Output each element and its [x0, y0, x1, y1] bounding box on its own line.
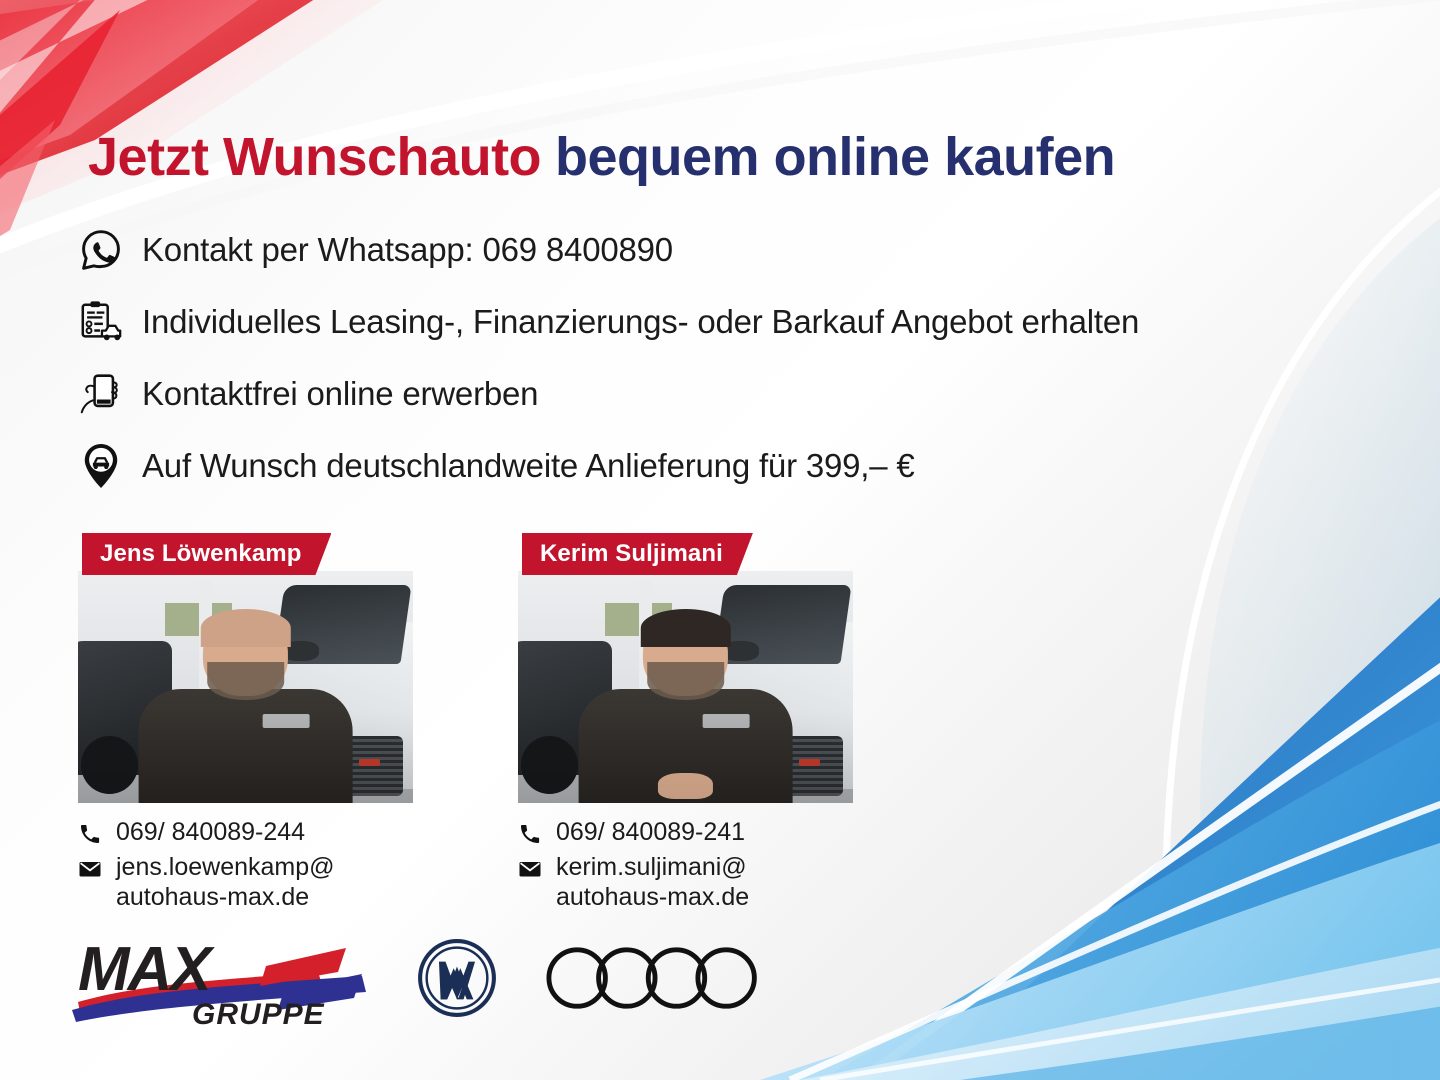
feature-item-delivery: Auf Wunsch deutschlandweite Anlieferung …: [78, 430, 1368, 502]
page-title-blue: bequem online kaufen: [555, 126, 1115, 188]
envelope-icon: [518, 852, 544, 881]
feature-list: Kontakt per Whatsapp: 069 8400890: [78, 214, 1368, 502]
staff-email-line[interactable]: kerim.suljimani@: [518, 852, 853, 883]
feature-item-online: Kontaktfrei online erwerben: [78, 358, 1368, 430]
feature-item-whatsapp: Kontakt per Whatsapp: 069 8400890: [78, 214, 1368, 286]
staff-contact: 069/ 840089-244 jens.loewenkamp@ autohau…: [78, 817, 413, 912]
promo-banner: Jetzt Wunschauto bequem online kaufen Ko…: [0, 0, 1440, 1080]
feature-label: Kontaktfrei online erwerben: [142, 375, 538, 413]
feature-label: Individuelles Leasing-, Finanzierungs- o…: [142, 303, 1139, 341]
staff-phone: 069/ 840089-241: [556, 817, 745, 848]
svg-text:GRUPPE: GRUPPE: [192, 998, 325, 1028]
staff-name-badge: Kerim Suljimani: [522, 533, 753, 575]
staff-email-line2: autohaus-max.de: [518, 883, 853, 912]
staff-email-line[interactable]: jens.loewenkamp@: [78, 852, 413, 883]
page-title: Jetzt Wunschauto bequem online kaufen: [88, 126, 1115, 188]
staff-email-line1: jens.loewenkamp@: [116, 852, 335, 883]
feature-label: Kontakt per Whatsapp: 069 8400890: [142, 231, 673, 269]
staff-phone-line[interactable]: 069/ 840089-241: [518, 817, 853, 848]
map-pin-car-icon: [78, 441, 124, 491]
feature-label: Auf Wunsch deutschlandweite Anlieferung …: [142, 447, 915, 485]
staff-email-line1: kerim.suljimani@: [556, 852, 747, 883]
staff-card-kerim: Kerim Suljimani: [518, 533, 853, 912]
feature-item-financing: Individuelles Leasing-, Finanzierungs- o…: [78, 286, 1368, 358]
staff-phone-line[interactable]: 069/ 840089-244: [78, 817, 413, 848]
staff-photo: [518, 571, 853, 803]
staff-email-line2: autohaus-max.de: [78, 883, 413, 912]
volkswagen-logo: [416, 937, 498, 1019]
phone-icon: [78, 817, 104, 846]
page-title-red: Jetzt Wunschauto: [88, 126, 541, 188]
svg-text:MAX: MAX: [78, 935, 215, 1004]
whatsapp-icon: [78, 225, 124, 275]
staff-contact: 069/ 840089-241 kerim.suljimani@ autohau…: [518, 817, 853, 912]
phone-icon: [518, 817, 544, 846]
staff-card-jens: Jens Löwenkamp: [78, 533, 413, 912]
staff-phone: 069/ 840089-244: [116, 817, 305, 848]
envelope-icon: [78, 852, 104, 881]
hand-phone-icon: [78, 369, 124, 419]
staff-photo: [78, 571, 413, 803]
max-gruppe-logo: MAX GRUPPE: [70, 928, 370, 1028]
clipboard-car-icon: [78, 297, 124, 347]
brand-logo-row: MAX GRUPPE: [70, 928, 770, 1028]
staff-name-badge: Jens Löwenkamp: [82, 533, 331, 575]
audi-logo: [544, 941, 770, 1015]
